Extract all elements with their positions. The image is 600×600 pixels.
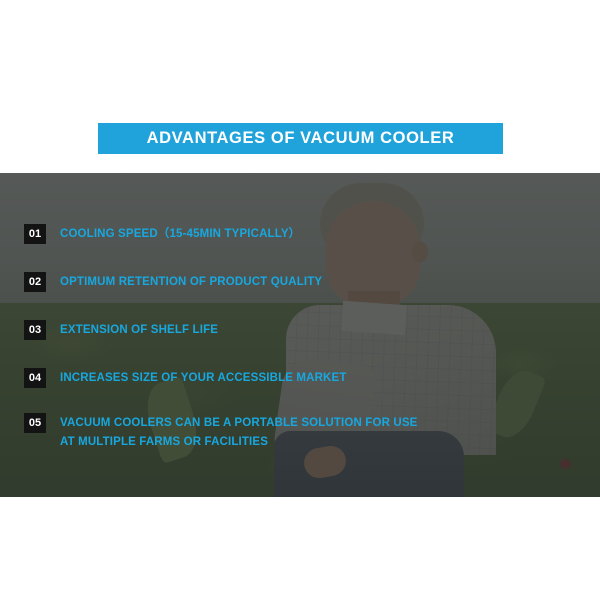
item-label: EXTENSION OF SHELF LIFE (60, 320, 218, 340)
item-number-badge: 02 (24, 272, 46, 292)
item-label: OPTIMUM RETENTION OF PRODUCT QUALITY (60, 272, 322, 292)
page-title: ADVANTAGES OF VACUUM COOLER (147, 129, 455, 148)
item-label: COOLING SPEED（15-45MIN TYPICALLY） (60, 224, 300, 244)
item-label: VACUUM COOLERS CAN BE A PORTABLE SOLUTIO… (60, 413, 417, 452)
advantage-list: 01 COOLING SPEED（15-45MIN TYPICALLY） 02 … (0, 173, 600, 497)
list-item: 03 EXTENSION OF SHELF LIFE (24, 320, 218, 340)
slide-page: ADVANTAGES OF VACUUM COOLER (0, 0, 600, 600)
list-item: 04 INCREASES SIZE OF YOUR ACCESSIBLE MAR… (24, 368, 347, 388)
item-number-badge: 05 (24, 413, 46, 433)
item-number-badge: 01 (24, 224, 46, 244)
item-label: INCREASES SIZE OF YOUR ACCESSIBLE MARKET (60, 368, 347, 388)
item-number-badge: 04 (24, 368, 46, 388)
list-item: 02 OPTIMUM RETENTION OF PRODUCT QUALITY (24, 272, 322, 292)
list-item: 01 COOLING SPEED（15-45MIN TYPICALLY） (24, 224, 300, 244)
list-item: 05 VACUUM COOLERS CAN BE A PORTABLE SOLU… (24, 413, 417, 452)
item-number-badge: 03 (24, 320, 46, 340)
title-banner: ADVANTAGES OF VACUUM COOLER (98, 123, 503, 154)
